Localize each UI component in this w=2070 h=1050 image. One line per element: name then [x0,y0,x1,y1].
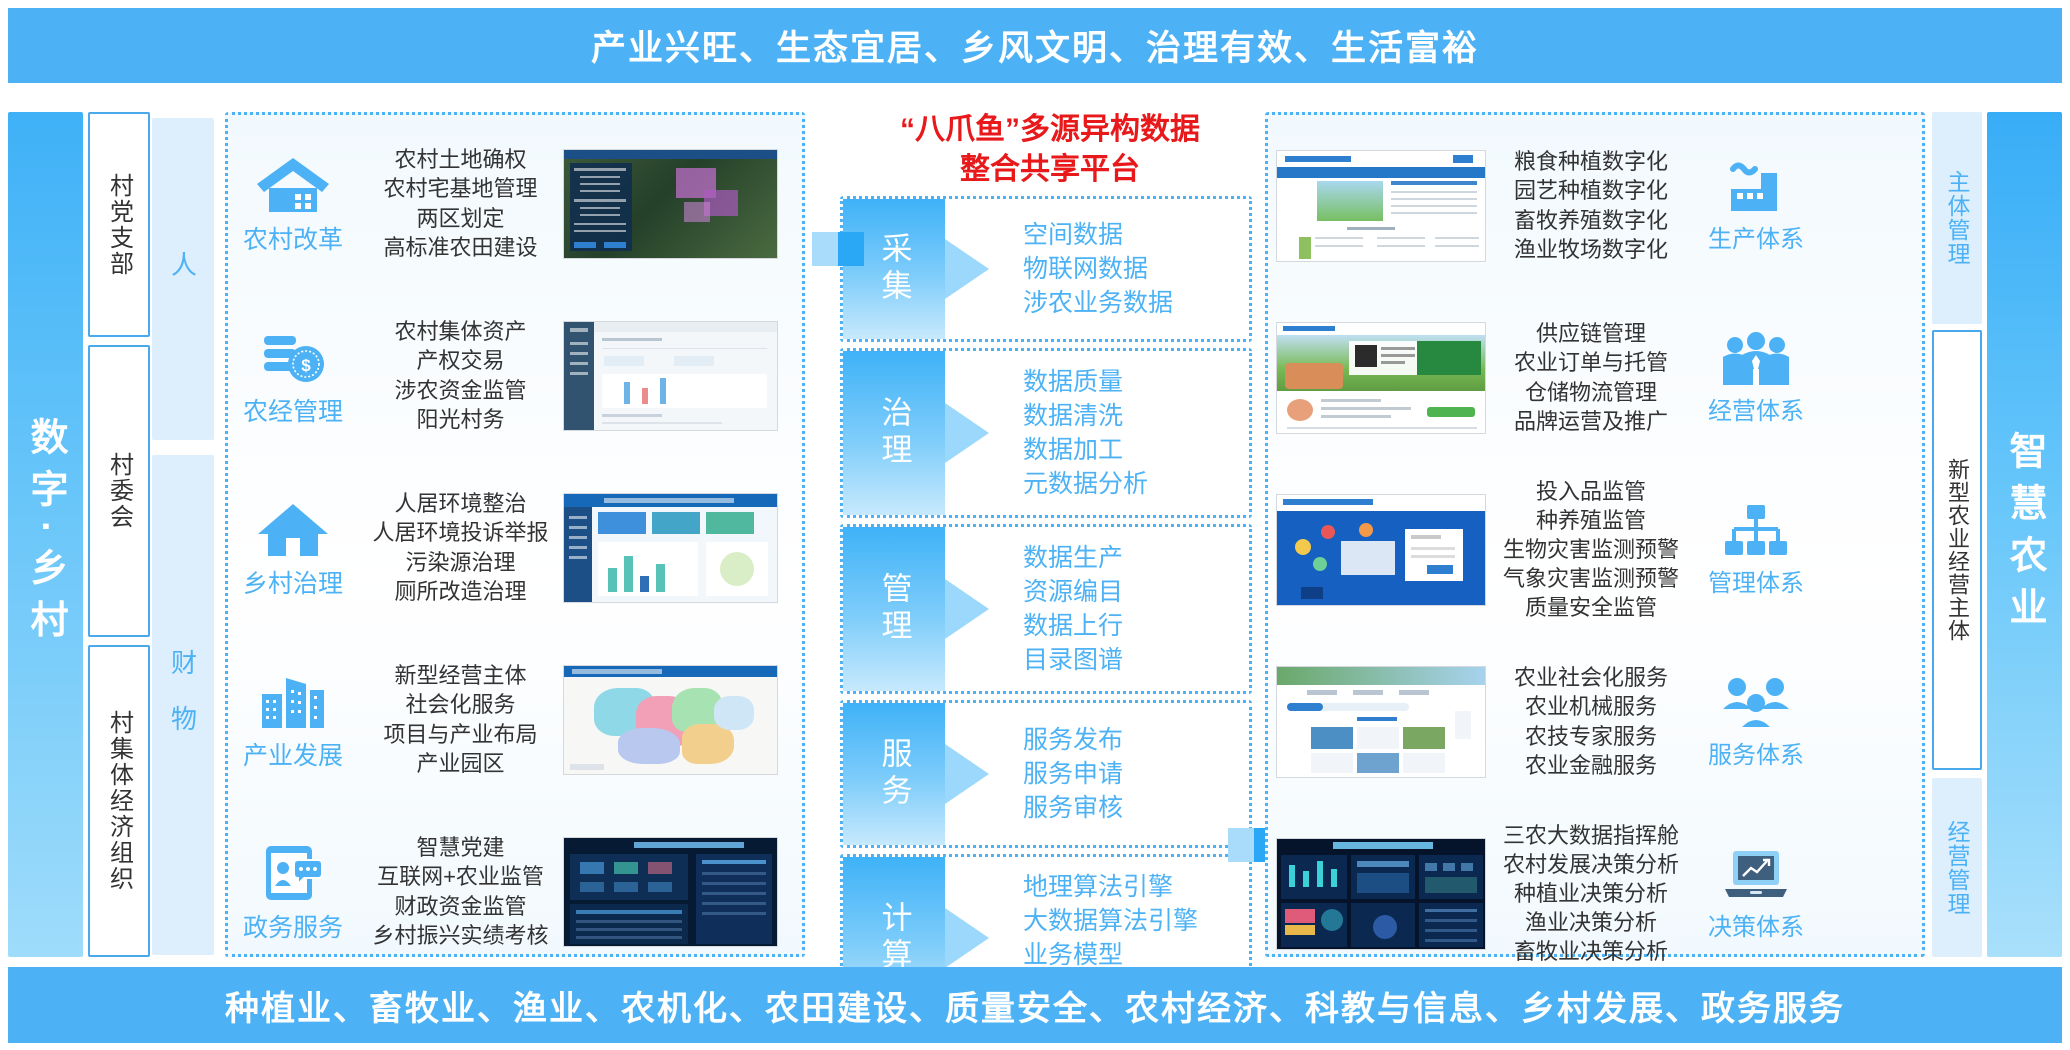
org-box-label: 村集体经济组织 [102,710,137,892]
stage-item: 服务发布 [1023,723,1249,757]
system-caption: 生产体系 [1708,219,1804,254]
tint-column-finance-assets: 财物 [152,455,214,955]
system-item: 畜牧业决策分析 [1486,937,1696,966]
tint-column-label: 经营管理 [1940,820,1974,916]
stage-item: 数据加工 [1023,433,1249,467]
stage-item: 数据上行 [1023,609,1249,643]
stage-collect[interactable]: 采集 空间数据 物联网数据 涉农业务数据 [840,196,1252,342]
system-items: 三农大数据指挥舱 农村发展决策分析 种植业决策分析 渔业决策分析 畜牧业决策分析 [1486,821,1696,966]
business-icon-block: 农村改革 [228,152,358,256]
tint-column-label: 主体管理 [1940,170,1974,266]
business-item: 智慧党建 [358,833,563,862]
system-item: 农村发展决策分析 [1486,850,1696,879]
stage-item: 数据清洗 [1023,399,1249,433]
svg-text:$: $ [301,356,311,375]
industry-map-screenshot[interactable] [563,665,778,775]
business-item: 涉农资金监管 [358,376,563,405]
system-items: 农业社会化服务 农业机械服务 农技专家服务 农业金融服务 [1486,663,1696,779]
stage-item: 地理算法引擎 [1023,870,1249,904]
connector-left-collect [812,232,864,266]
system-item: 生物灾害监测预警 [1486,535,1696,564]
org-box-collective-economic-org[interactable]: 村集体经济组织 [88,645,150,957]
system-item: 仓储物流管理 [1486,378,1696,407]
org-box-new-agri-entity[interactable]: 新型农业经营主体 [1932,330,1982,770]
right-rail-title: 智慧农业 [1987,112,2062,957]
stage-tag: 管理 [843,527,945,691]
business-item: 高标准农田建设 [358,233,563,262]
tint-column-people: 人 [152,118,214,440]
stage-items: 空间数据 物联网数据 涉农业务数据 [945,199,1249,339]
org-box-label: 村委会 [102,452,137,530]
stage-item: 目录图谱 [1023,643,1249,677]
business-item: 社会化服务 [358,690,563,719]
org-box-label: 村党支部 [102,173,137,277]
stage-item: 服务申请 [1023,757,1249,791]
center-platform-title: “八爪鱼”多源异构数据 整合共享平台 [840,110,1260,190]
business-caption: 农村改革 [243,220,343,256]
business-item: 农村集体资产 [358,317,563,346]
system-item: 粮食种植数字化 [1486,147,1696,176]
business-item: 人居环境整治 [358,489,563,518]
system-icon-block: 经营体系 [1696,329,1816,426]
left-rail-title: 数字·乡村 [8,112,83,957]
stage-items: 服务发布 服务申请 服务审核 [945,703,1249,845]
system-item: 投入品监管 [1486,477,1696,506]
system-caption: 管理体系 [1708,563,1804,598]
org-box-label: 新型农业经营主体 [1941,458,1973,642]
system-item: 供应链管理 [1486,319,1696,348]
business-item: 阳光村务 [358,405,563,434]
business-item: 互联网+农业监管 [358,862,563,891]
stage-item: 服务审核 [1023,791,1249,825]
system-item: 三农大数据指挥舱 [1486,821,1696,850]
coins-money-icon: $ [254,324,332,386]
stage-governance[interactable]: 治理 数据质量 数据清洗 数据加工 元数据分析 [840,348,1252,518]
system-item: 农业订单与托管 [1486,348,1696,377]
governance-dashboard-screenshot[interactable] [563,493,778,603]
tint-column-entity-management: 主体管理 [1932,112,1982,324]
system-item: 种植业决策分析 [1486,879,1696,908]
finance-dashboard-screenshot[interactable] [563,321,778,431]
stage-item: 数据生产 [1023,541,1249,575]
system-item: 渔业决策分析 [1486,908,1696,937]
stage-item: 数据质量 [1023,365,1249,399]
system-row-decision[interactable]: 三农大数据指挥舱 农村发展决策分析 种植业决策分析 渔业决策分析 畜牧业决策分析… [1268,811,1922,976]
stage-items: 数据质量 数据清洗 数据加工 元数据分析 [945,351,1249,515]
system-item: 农业机械服务 [1486,692,1696,721]
business-caption: 乡村治理 [243,564,343,600]
three-people-icon [1719,673,1793,731]
business-icon-block: 产业发展 [228,668,358,772]
system-item: 气象灾害监测预警 [1486,564,1696,593]
stage-item: 物联网数据 [1023,252,1249,286]
system-icon-block: 决策体系 [1696,845,1816,942]
business-item: 产权交易 [358,346,563,375]
org-box-village-party-branch[interactable]: 村党支部 [88,112,150,337]
top-banner-text: 产业兴旺、生态宜居、乡风文明、治理有效、生活富裕 [591,20,1479,71]
business-item: 两区划定 [358,204,563,233]
business-item: 乡村振兴实绩考核 [358,921,563,950]
stage-item: 空间数据 [1023,218,1249,252]
bottom-banner: 种植业、畜牧业、渔业、农机化、农田建设、质量安全、农村经济、科教与信息、乡村发展… [8,967,2062,1043]
system-items: 粮食种植数字化 园艺种植数字化 畜牧养殖数字化 渔业牧场数字化 [1486,147,1696,263]
business-item: 厕所改造治理 [358,577,563,606]
satellite-map-screenshot[interactable] [563,149,778,259]
system-caption: 决策体系 [1708,907,1804,942]
system-icon-block: 管理体系 [1696,501,1816,598]
smart-agriculture-panel: 粮食种植数字化 园艺种植数字化 畜牧养殖数字化 渔业牧场数字化 生产体系 [1265,112,1925,957]
system-caption: 服务体系 [1708,735,1804,770]
system-row-service[interactable]: 农业社会化服务 农业机械服务 农技专家服务 农业金融服务 服务体系 [1268,639,1922,804]
org-chart-icon [1719,501,1793,559]
center-title-line2: 整合共享平台 [840,150,1260,190]
factory-icon [1719,157,1793,215]
business-items: 智慧党建 互联网+农业监管 财政资金监管 乡村振兴实绩考核 [358,833,563,949]
business-caption: 产业发展 [243,736,343,772]
system-caption: 经营体系 [1708,391,1804,426]
infographic-page: 产业兴旺、生态宜居、乡风文明、治理有效、生活富裕 数字·乡村 村党支部 村委会 … [0,0,2070,1050]
business-caption: 农经管理 [243,392,343,428]
system-items: 供应链管理 农业订单与托管 仓储物流管理 品牌运营及推广 [1486,319,1696,435]
top-banner: 产业兴旺、生态宜居、乡风文明、治理有效、生活富裕 [8,8,2062,83]
business-item: 污染源治理 [358,548,563,577]
business-item: 财政资金监管 [358,892,563,921]
business-row-rural-economy[interactable]: $ 农经管理 农村集体资产 产权交易 涉农资金监管 阳光村务 [228,293,802,458]
laptop-chart-icon [1719,845,1793,903]
home-icon [254,496,332,558]
business-item: 农村宅基地管理 [358,174,563,203]
business-item: 新型经营主体 [358,661,563,690]
business-row-government-services[interactable]: 政务服务 智慧党建 互联网+农业监管 财政资金监管 乡村振兴实绩考核 [228,809,802,974]
tint-column-label: 财物 [165,649,202,761]
system-item: 畜牧养殖数字化 [1486,206,1696,235]
stage-tag: 服务 [843,703,945,845]
business-items: 新型经营主体 社会化服务 项目与产业布局 产业园区 [358,661,563,777]
business-icon-block: 政务服务 [228,840,358,944]
system-item: 农业社会化服务 [1486,663,1696,692]
business-item: 产业园区 [358,749,563,778]
stage-item: 资源编目 [1023,575,1249,609]
mobile-service-icon [254,840,332,902]
stage-items: 数据生产 资源编目 数据上行 目录图谱 [945,527,1249,691]
system-icon-block: 服务体系 [1696,673,1816,770]
right-rail-title-text: 智慧农业 [1997,431,2052,639]
stage-tag: 采集 [843,199,945,339]
system-row-production[interactable]: 粮食种植数字化 园艺种植数字化 畜牧养殖数字化 渔业牧场数字化 生产体系 [1268,123,1922,288]
business-item: 项目与产业布局 [358,720,563,749]
business-item: 人居环境投诉举报 [358,518,563,547]
system-item: 农技专家服务 [1486,722,1696,751]
bottom-banner-text: 种植业、畜牧业、渔业、农机化、农田建设、质量安全、农村经济、科教与信息、乡村发展… [225,981,1845,1030]
system-item: 品牌运营及推广 [1486,407,1696,436]
system-icon-block: 生产体系 [1696,157,1816,254]
system-item: 质量安全监管 [1486,593,1696,622]
stage-item: 涉农业务数据 [1023,286,1249,320]
buildings-icon [254,668,332,730]
party-dark-dashboard-screenshot[interactable] [563,837,778,947]
business-items: 人居环境整治 人居环境投诉举报 污染源治理 厕所改造治理 [358,489,563,605]
stage-item: 元数据分析 [1023,467,1249,501]
org-box-village-committee[interactable]: 村委会 [88,345,150,637]
system-item: 园艺种植数字化 [1486,176,1696,205]
left-rail-title-text: 数字·乡村 [18,417,73,652]
stage-item: 大数据算法引擎 [1023,904,1249,938]
stage-service[interactable]: 服务 服务发布 服务申请 服务审核 [840,700,1252,848]
business-icon-block: 乡村治理 [228,496,358,600]
business-row-industry-development[interactable]: 产业发展 新型经营主体 社会化服务 项目与产业布局 产业园区 [228,637,802,802]
system-item: 农业金融服务 [1486,751,1696,780]
business-items: 农村集体资产 产权交易 涉农资金监管 阳光村务 [358,317,563,433]
business-row-rural-governance[interactable]: 乡村治理 人居环境整治 人居环境投诉举报 污染源治理 厕所改造治理 [228,465,802,630]
business-item: 农村土地确权 [358,145,563,174]
system-row-management[interactable]: 投入品监管 种养殖监管 生物灾害监测预警 气象灾害监测预警 质量安全监管 管理体… [1268,467,1922,632]
tint-column-label: 人 [165,251,202,307]
business-row-rural-reform[interactable]: 农村改革 农村土地确权 农村宅基地管理 两区划定 高标准农田建设 [228,121,802,286]
bigdata-dark-screenshot[interactable] [1276,838,1486,950]
business-items: 农村土地确权 农村宅基地管理 两区划定 高标准农田建设 [358,145,563,261]
stage-tag: 治理 [843,351,945,515]
people-group-icon [1719,329,1793,387]
produce-traceability-screenshot[interactable] [1276,322,1486,434]
system-item: 种养殖监管 [1486,506,1696,535]
service-portal-screenshot[interactable] [1276,666,1486,778]
business-caption: 政务服务 [243,908,343,944]
system-row-operation[interactable]: 供应链管理 农业订单与托管 仓储物流管理 品牌运营及推广 经营体系 [1268,295,1922,460]
house-roof-icon [254,152,332,214]
center-title-line1: “八爪鱼”多源异构数据 [840,110,1260,150]
stage-management[interactable]: 管理 数据生产 资源编目 数据上行 目录图谱 [840,524,1252,694]
system-item: 渔业牧场数字化 [1486,235,1696,264]
system-items: 投入品监管 种养殖监管 生物灾害监测预警 气象灾害监测预警 质量安全监管 [1486,477,1696,622]
agri-portal-screenshot[interactable] [1276,150,1486,262]
tint-column-operation-management: 经营管理 [1932,778,1982,957]
rural-business-panel: 农村改革 农村土地确权 农村宅基地管理 两区划定 高标准农田建设 [225,112,805,957]
business-icon-block: $ 农经管理 [228,324,358,428]
food-safety-screenshot[interactable] [1276,494,1486,606]
